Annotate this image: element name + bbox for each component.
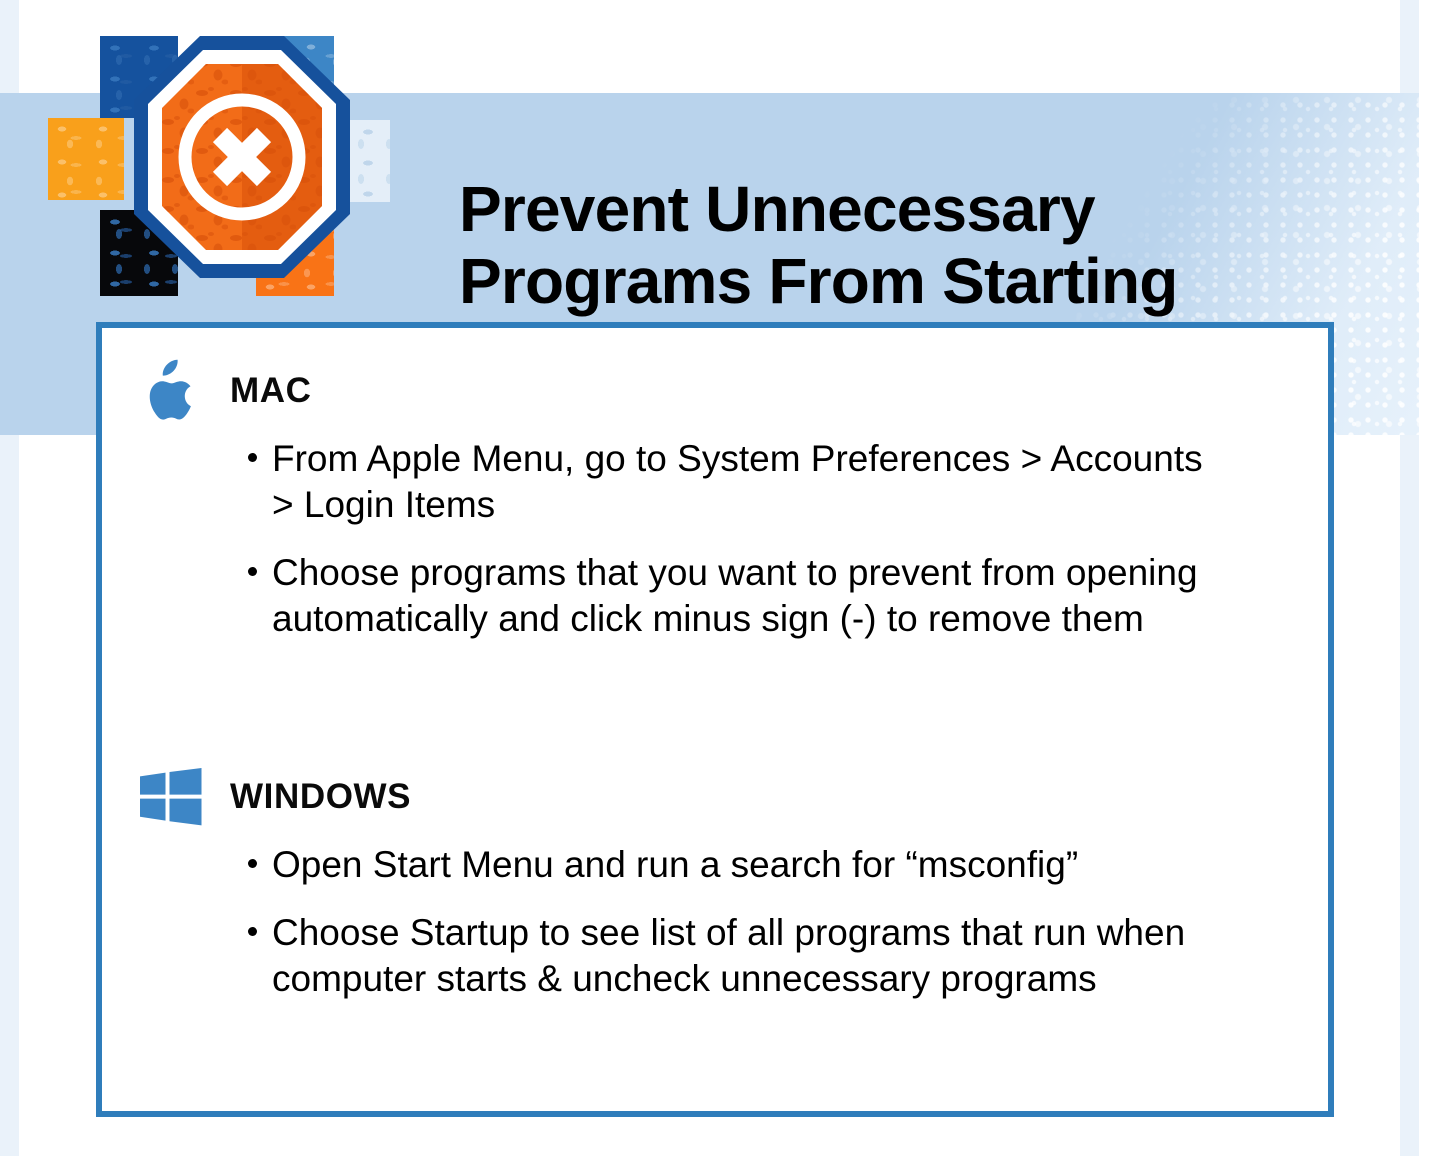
bullet-dot-icon [248, 453, 257, 462]
section-windows-bullets: Open Start Menu and run a search for “ms… [102, 842, 1328, 1002]
list-item: Choose Startup to see list of all progra… [102, 910, 1328, 1002]
bullet-dot-icon [248, 567, 257, 576]
bullet-dot-icon [248, 927, 257, 936]
bullet-text: From Apple Menu, go to System Preference… [272, 436, 1232, 528]
square-orange-left [48, 118, 124, 200]
section-mac-bullets: From Apple Menu, go to System Preference… [102, 436, 1328, 642]
section-windows: WINDOWS Open Start Menu and run a search… [102, 766, 1328, 1024]
stop-sign-logo [48, 28, 448, 303]
list-item: From Apple Menu, go to System Preference… [102, 436, 1328, 528]
stop-octagon-x-icon [126, 28, 358, 286]
section-mac-title: MAC [230, 371, 312, 411]
page-title: Prevent UnnecessaryPrograms From Startin… [459, 174, 1339, 317]
section-mac-header: MAC [102, 360, 1328, 422]
section-windows-header: WINDOWS [102, 766, 1328, 828]
bullet-text: Choose Startup to see list of all progra… [272, 910, 1232, 1002]
section-windows-title: WINDOWS [230, 777, 411, 817]
section-mac: MAC From Apple Menu, go to System Prefer… [102, 360, 1328, 664]
list-item: Open Start Menu and run a search for “ms… [102, 842, 1328, 888]
apple-logo-icon [140, 359, 202, 423]
windows-logo-icon [140, 768, 202, 826]
list-item: Choose programs that you want to prevent… [102, 550, 1328, 642]
instructions-card: MAC From Apple Menu, go to System Prefer… [96, 322, 1334, 1117]
infographic-page: Prevent UnnecessaryPrograms From Startin… [0, 0, 1435, 1156]
bullet-text: Choose programs that you want to prevent… [272, 550, 1232, 642]
page-title-line-1: Prevent Unnecessary [459, 173, 1095, 245]
bullet-text: Open Start Menu and run a search for “ms… [272, 842, 1232, 888]
page-title-line-2: Programs From Starting [459, 245, 1178, 317]
bullet-dot-icon [248, 859, 257, 868]
